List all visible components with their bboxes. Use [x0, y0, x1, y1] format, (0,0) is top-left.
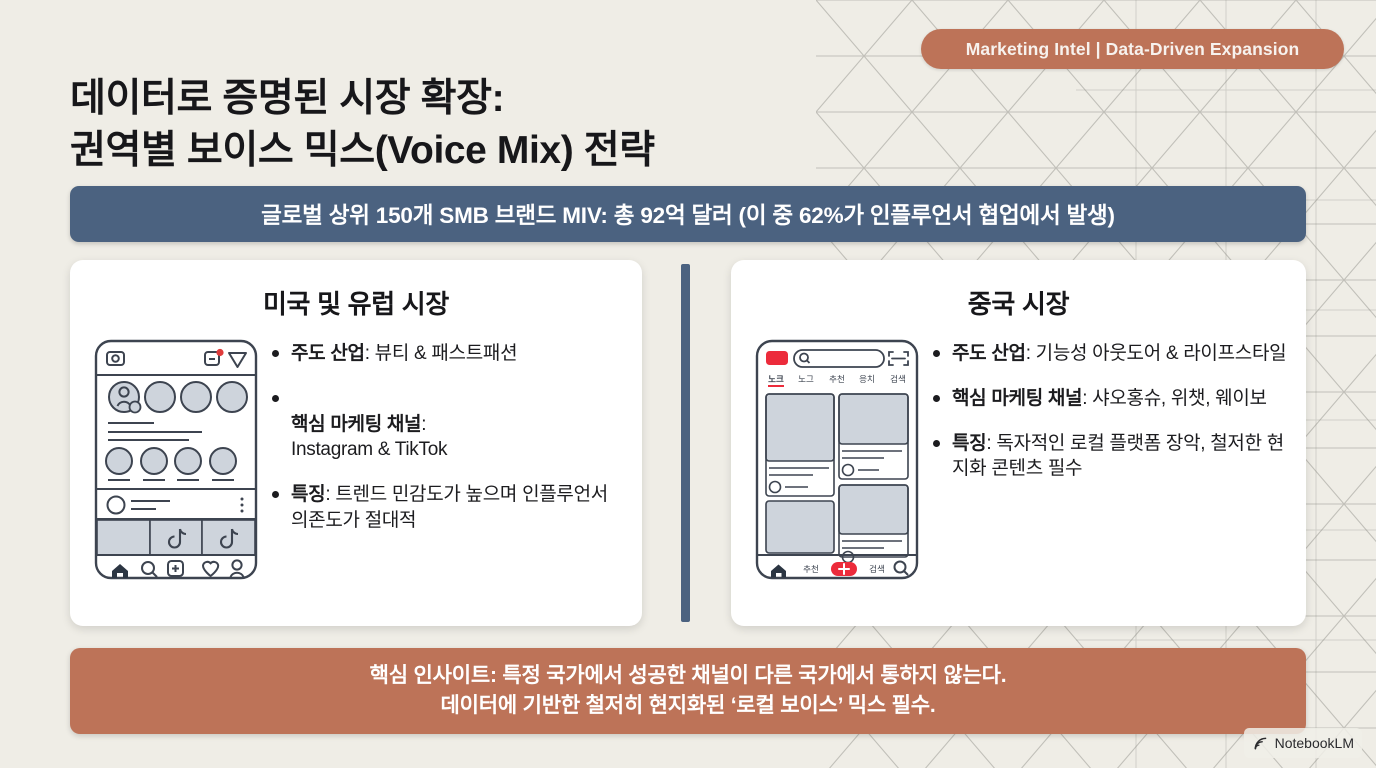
bullet-value: : 트렌드 민감도가 높으며 인플루언서 의존도가 절대적 — [291, 484, 608, 531]
tab-label: 노그 — [798, 374, 814, 384]
list-item: 핵심 마케팅 채널: Instagram & TikTok — [270, 386, 628, 463]
page-title: 데이터로 증명된 시장 확장: 권역별 보이스 믹스(Voice Mix) 전략 — [70, 73, 890, 177]
instagram-mockup-svg — [92, 337, 260, 582]
instagram-phone-mockup — [88, 333, 264, 582]
tab-label: 응치 — [859, 374, 875, 384]
nav-label-search: 검색 — [869, 564, 885, 574]
key-insight-line-2: 데이터에 기반한 철저히 현지화된 ‘로컬 보이스’ 믹스 필수. — [441, 691, 936, 721]
bullet-label: 핵심 마케팅 채널 — [952, 388, 1082, 409]
bullet-value: : 샤오홍슈, 위챗, 웨이보 — [1082, 388, 1267, 409]
nav-label-recommend: 추천 — [803, 564, 819, 574]
xiaohongshu-mockup-svg: 노크 노그 추천 응치 검색 — [753, 337, 921, 582]
tab-label: 노크 — [768, 374, 784, 384]
bullet-label: 특징 — [291, 484, 325, 505]
notebooklm-watermark: NotebookLM — [1244, 728, 1362, 758]
column-divider — [681, 264, 690, 622]
slide-canvas: Marketing Intel | Data-Driven Expansion … — [0, 0, 1376, 768]
notification-badge-dot — [216, 349, 223, 356]
more-options-icon — [241, 498, 244, 513]
list-item: 핵심 마케팅 채널: 샤오홍슈, 위챗, 웨이보 — [931, 386, 1292, 412]
bullet-value: : 독자적인 로컬 플랫폼 장악, 철저한 현지화 콘텐츠 필수 — [952, 433, 1284, 480]
bullet-value: : 뷰티 & 패스트패션 — [365, 343, 518, 364]
bullet-label: 주도 산업 — [291, 343, 365, 364]
active-tab-underline — [768, 385, 784, 387]
list-item: 주도 산업: 뷰티 & 패스트패션 — [270, 341, 628, 367]
bullet-label: 특징 — [952, 433, 986, 454]
bullet-list-china: 주도 산업: 기능성 아웃도어 & 라이프스타일 핵심 마케팅 채널: 샤오홍슈… — [925, 333, 1292, 582]
bullet-label: 핵심 마케팅 채널 — [291, 414, 421, 435]
list-item: 특징: 독자적인 로컬 플랫폼 장악, 철저한 현지화 콘텐츠 필수 — [931, 431, 1292, 483]
bullet-label: 주도 산업 — [952, 343, 1026, 364]
header-badge-label: Marketing Intel | Data-Driven Expansion — [966, 39, 1300, 60]
tab-label: 검색 — [890, 374, 906, 384]
notebooklm-icon — [1252, 735, 1269, 752]
stat-banner-label: 글로벌 상위 150개 SMB 브랜드 MIV: 총 92억 달러 (이 중 6… — [261, 198, 1115, 230]
bullet-value: : 기능성 아웃도어 & 라이프스타일 — [1026, 343, 1287, 364]
header-badge: Marketing Intel | Data-Driven Expansion — [921, 29, 1344, 69]
media-tiles — [97, 520, 255, 555]
market-card-china: 중국 시장 — [731, 260, 1306, 626]
tab-label: 추천 — [829, 374, 845, 384]
key-insight-bar: 핵심 인사이트: 특정 국가에서 성공한 채널이 다른 국가에서 통하지 않는다… — [70, 648, 1306, 734]
list-item: 주도 산업: 기능성 아웃도어 & 라이프스타일 — [931, 341, 1292, 367]
card-heading-us-eu: 미국 및 유럽 시장 — [70, 284, 642, 321]
bullet-list-us-eu: 주도 산업: 뷰티 & 패스트패션 핵심 마케팅 채널: Instagram &… — [264, 333, 628, 582]
market-card-us-eu: 미국 및 유럽 시장 — [70, 260, 642, 626]
xiaohongshu-phone-mockup: 노크 노그 추천 응치 검색 — [749, 333, 925, 582]
key-insight-line-1: 핵심 인사이트: 특정 국가에서 성공한 채널이 다른 국가에서 통하지 않는다… — [370, 661, 1007, 691]
stat-banner: 글로벌 상위 150개 SMB 브랜드 MIV: 총 92억 달러 (이 중 6… — [70, 186, 1306, 242]
list-item: 특징: 트렌드 민감도가 높으며 인플루언서 의존도가 절대적 — [270, 482, 628, 534]
notebooklm-label: NotebookLM — [1275, 735, 1354, 751]
card-heading-china: 중국 시장 — [731, 284, 1306, 321]
app-logo-icon — [766, 351, 788, 365]
